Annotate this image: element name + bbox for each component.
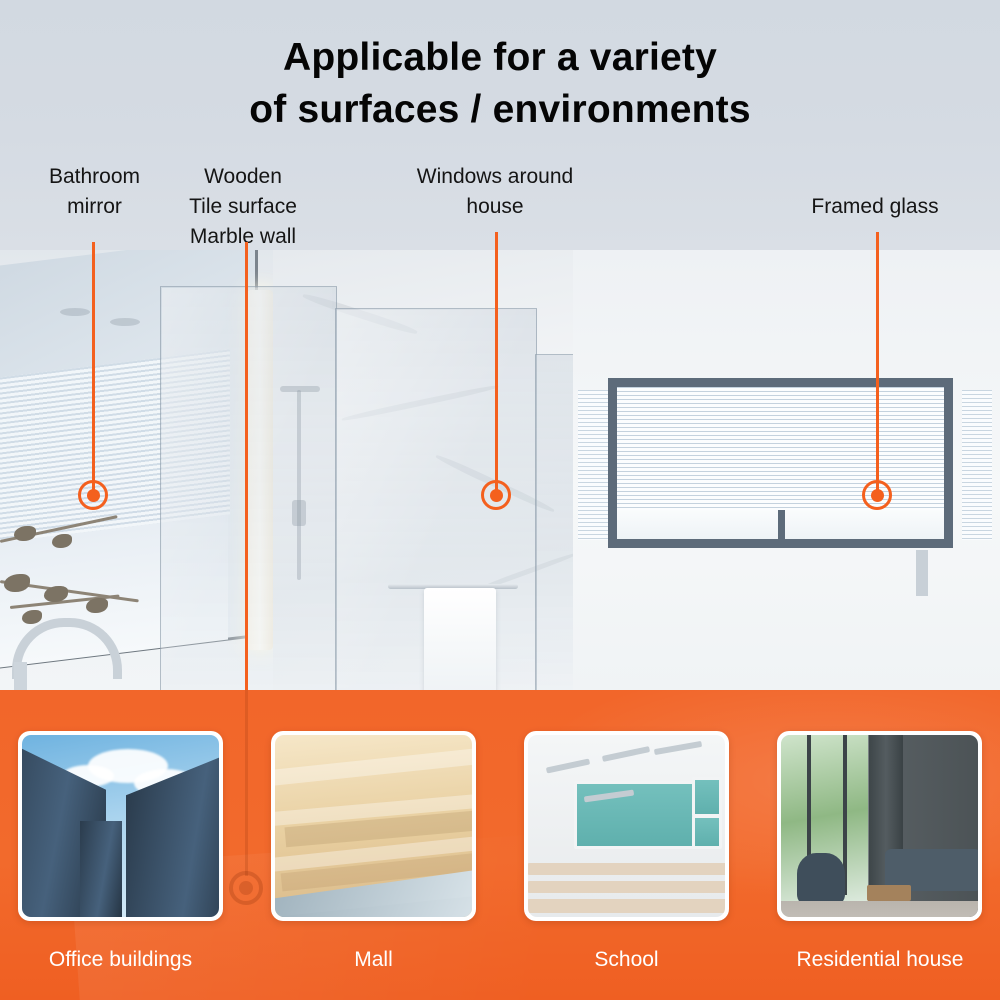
callout-line-wooden-tile-marble [245, 242, 248, 690]
thumbnail-mall[interactable] [271, 731, 476, 921]
chalkboard [574, 781, 698, 849]
desk-row [528, 863, 725, 875]
floor [781, 901, 978, 917]
callout-label-bathroom-mirror: Bathroom mirror [22, 162, 167, 222]
page-title-line1: Applicable for a variety [283, 36, 717, 79]
skyscraper-center [80, 821, 122, 917]
desk-row [528, 881, 725, 893]
callout-marker-bathroom-mirror[interactable] [78, 480, 108, 510]
promo-infographic: Applicable for a variety of surfaces / e… [0, 0, 1000, 1000]
ceiling-spotlight [60, 308, 90, 316]
callout-line-windows-around-house [495, 232, 498, 490]
shower-head [280, 386, 320, 392]
thumbnail-caption-school: School [524, 948, 729, 972]
coffee-table [867, 885, 911, 901]
page-title-line2: of surfaces / environments [0, 84, 1000, 136]
callout-marker-windows-around-house[interactable] [481, 480, 511, 510]
thumbnail-image-residential-house [781, 735, 978, 917]
callout-line-framed-glass [876, 232, 879, 490]
thumbnail-caption-residential-house: Residential house [766, 948, 994, 972]
side-window-left [578, 390, 608, 540]
callout-marker-framed-glass[interactable] [862, 480, 892, 510]
callout-label-framed-glass: Framed glass [786, 192, 964, 222]
window-mullion [778, 510, 785, 539]
desk-row [528, 899, 725, 913]
ceiling-spotlight [110, 318, 140, 326]
shower-riser [297, 390, 301, 580]
main-photo-bathroom-interior [0, 250, 1000, 690]
callout-label-wooden-tile-marble: Wooden Tile surface Marble wall [168, 162, 318, 252]
faucet-stem [14, 662, 27, 690]
armchair [797, 853, 845, 905]
thumbnail-image-school [528, 735, 725, 917]
side-faucet [916, 550, 928, 596]
thumbnail-caption-office-buildings: Office buildings [18, 948, 223, 972]
thumbnail-caption-mall: Mall [271, 948, 476, 972]
window-blinds [617, 387, 944, 510]
thumbnail-residential-house[interactable] [777, 731, 982, 921]
shower-valve [292, 500, 306, 526]
side-window-right [962, 390, 992, 540]
thumbnail-office-buildings[interactable] [18, 731, 223, 921]
callout-marker-wooden-tile-marble[interactable] [229, 871, 263, 905]
thumbnail-school[interactable] [524, 731, 729, 921]
callout-line-bathroom-mirror [92, 242, 95, 490]
side-board [692, 777, 722, 817]
callout-line-wooden-tile-marble-continued [245, 690, 248, 876]
side-board [692, 815, 722, 849]
towel [424, 588, 496, 690]
thumbnail-image-mall [275, 735, 472, 917]
page-title: Applicable for a variety of surfaces / e… [0, 32, 1000, 136]
callout-label-windows-around-house: Windows around house [394, 162, 596, 222]
thumbnail-image-office-buildings [22, 735, 219, 917]
